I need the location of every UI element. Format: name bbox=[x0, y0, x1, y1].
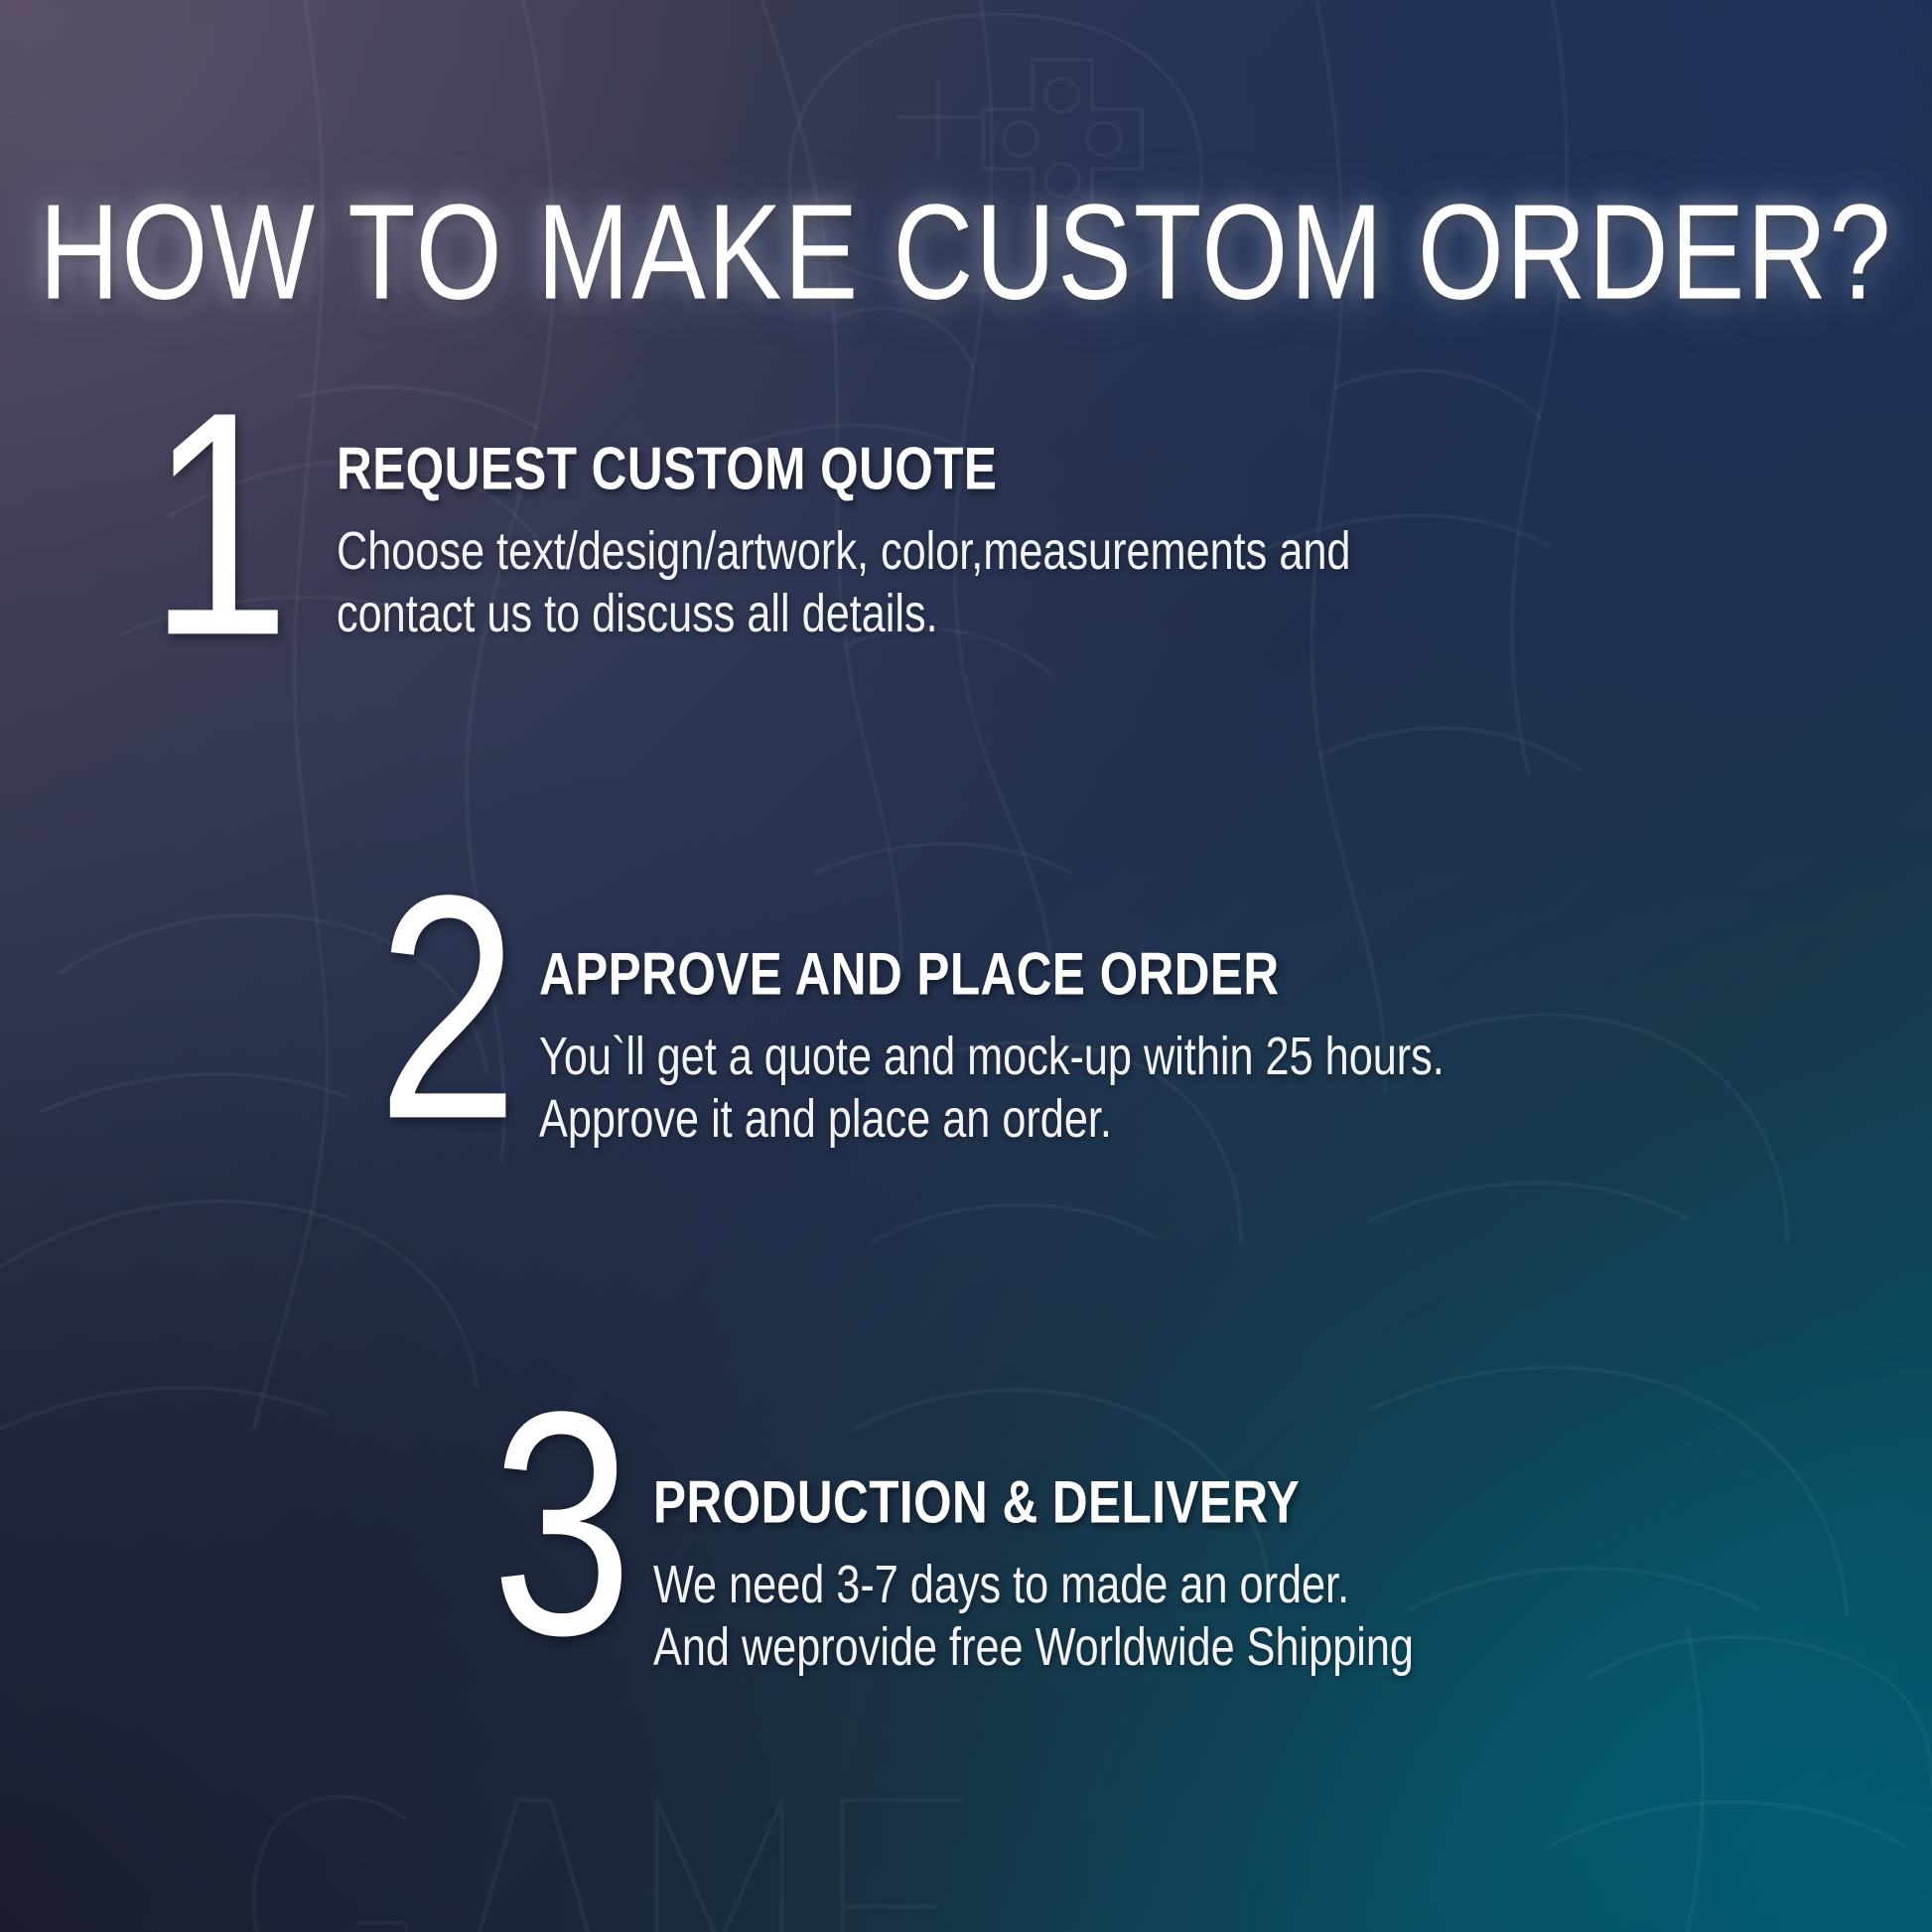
step-item-3: 3 PRODUCTION & DELIVERY We need 3-7 days… bbox=[491, 1415, 1480, 1663]
step-description-3: We need 3-7 days to made an order. And w… bbox=[653, 1553, 1414, 1678]
step-number-1: 1 bbox=[149, 397, 285, 652]
step-description-2: You`ll get a quote and mock-up within 25… bbox=[539, 1025, 1445, 1150]
step-number-3: 3 bbox=[491, 1397, 627, 1652]
step-number-2: 2 bbox=[377, 881, 513, 1136]
step-description-1: Choose text/design/artwork, color,measur… bbox=[337, 519, 1350, 644]
step-title-1: REQUEST CUSTOM QUOTE bbox=[337, 439, 1328, 499]
step-item-1: 1 REQUEST CUSTOM QUOTE Choose text/desig… bbox=[149, 415, 1440, 629]
step-body-2: APPROVE AND PLACE ORDER You`ll get a quo… bbox=[539, 898, 1523, 1135]
content-root: HOW TO MAKE CUSTOM ORDER? 1 REQUEST CUST… bbox=[0, 0, 1932, 1932]
step-item-2: 2 APPROVE AND PLACE ORDER You`ll get a q… bbox=[377, 898, 1523, 1135]
step-title-3: PRODUCTION & DELIVERY bbox=[653, 1472, 1397, 1533]
step-title-2: APPROVE AND PLACE ORDER bbox=[539, 944, 1425, 1005]
infographic-canvas: HOW TO MAKE CUSTOM ORDER? 1 REQUEST CUST… bbox=[0, 0, 1932, 1932]
page-title: HOW TO MAKE CUSTOM ORDER? bbox=[0, 185, 1932, 321]
step-body-1: REQUEST CUSTOM QUOTE Choose text/design/… bbox=[337, 415, 1439, 629]
step-body-3: PRODUCTION & DELIVERY We need 3-7 days t… bbox=[653, 1415, 1480, 1663]
